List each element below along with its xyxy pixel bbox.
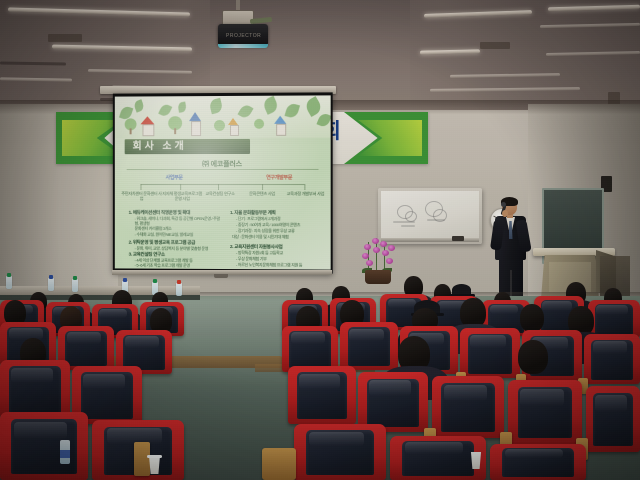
seat <box>490 444 586 480</box>
org-head-right: 연구개발부문 <box>244 174 314 181</box>
audience-head <box>518 340 548 374</box>
house-illustration <box>140 116 154 134</box>
bullet-line: - 방학특강 자원1회 등 고등학교 <box>236 250 325 256</box>
armrest <box>134 442 150 476</box>
water-bottle <box>176 283 182 296</box>
org-box: 문화콘텐츠 사업 <box>242 191 282 196</box>
bullet-line: 문화센터 커리큘럼 3개소 <box>135 226 222 232</box>
orchid-pot <box>365 270 391 284</box>
whiteboard <box>381 191 479 239</box>
water-bottle-label <box>60 450 70 458</box>
projector-lens <box>218 44 268 48</box>
bullet-line: - 어르신 노인복지문화체험 프로그램 지원 등 <box>236 262 327 268</box>
house-illustration <box>188 112 201 134</box>
seat <box>432 376 504 438</box>
water-bottle <box>48 278 54 291</box>
seat <box>358 372 428 432</box>
seat <box>0 360 70 418</box>
seat <box>586 386 640 452</box>
bullet-line: - 문화, 취미, 교양, 상담복지 등 분야별 맞춤형 운영 <box>135 246 224 252</box>
audience-cap <box>452 284 471 296</box>
water-bottle <box>6 276 12 289</box>
auditorium-photo: PROJECTOR 200 수회 우수취업 취업전략토론 일시 2009. 학교… <box>0 0 640 480</box>
org-box: 주민자치센터 문화센터 사업 <box>121 191 163 201</box>
org-box: 교육컨설팅 연구소 <box>202 191 238 196</box>
projection-screen: 회사 소개 ㈜ 에코플러스 사업부문 연구개발부문 주민자치센터 문화센터 사업… <box>113 92 333 273</box>
armrest <box>262 448 296 480</box>
microphone-head <box>501 202 506 207</box>
bullet-line: - 5~6세 기초 학습 프로그램 개발 운영 <box>135 263 222 269</box>
bullet-line: - 수채화 교실, 원어민NIE교실, 발레교실 <box>135 232 222 238</box>
org-box: 지자체 평생교육프로그램 운영 사업 <box>162 191 202 201</box>
slide-subtitle: ㈜ 에코플러스 <box>115 159 331 169</box>
side-ledge <box>0 286 200 295</box>
slide-header-illustration <box>115 95 331 138</box>
whiteboard-eraser <box>452 236 464 241</box>
bullet-line: - 장기과정 : 지속 성장을 위한 무상 교류 <box>236 228 325 234</box>
screen-pull-tab <box>214 274 228 278</box>
seat <box>288 366 356 424</box>
bullet-line: - 무상 문화체험 기부 <box>236 256 325 262</box>
seat <box>460 328 520 378</box>
banner-chevron-accent-right <box>358 120 422 156</box>
bullet-line: - 단기 : 프로그램에서 2개과정 <box>236 216 325 222</box>
water-bottle <box>72 279 78 292</box>
presenter <box>489 198 533 300</box>
slide-content: 회사 소개 ㈜ 에코플러스 사업부문 연구개발부문 주민자치센터 문화센터 사업… <box>115 95 331 269</box>
seat <box>508 380 582 444</box>
seat <box>294 424 386 480</box>
presenter-hand <box>502 210 508 217</box>
seat <box>340 322 398 370</box>
seat <box>0 412 88 480</box>
paper-cup-rim <box>147 455 162 458</box>
house-illustration <box>228 118 239 134</box>
seat <box>584 334 640 384</box>
projector-label: PROJECTOR <box>226 32 260 40</box>
slide-title: 회사 소개 <box>133 140 252 153</box>
bullet-line: 대상 : 문화센터 이용 및 시민기대 체험 <box>232 234 325 240</box>
org-head-left: 사업부문 <box>144 174 204 181</box>
bullet-line: - 중장기 : 50여개 교육 / 1000여명이 콘텐츠 <box>236 222 325 228</box>
audience-head <box>520 304 544 332</box>
house-illustration <box>274 116 286 134</box>
ceiling-vent <box>48 34 82 42</box>
slide-divider <box>127 169 319 170</box>
org-box: 교육과정 개발부서 사업 <box>284 191 326 196</box>
ceiling-vent <box>480 42 510 49</box>
